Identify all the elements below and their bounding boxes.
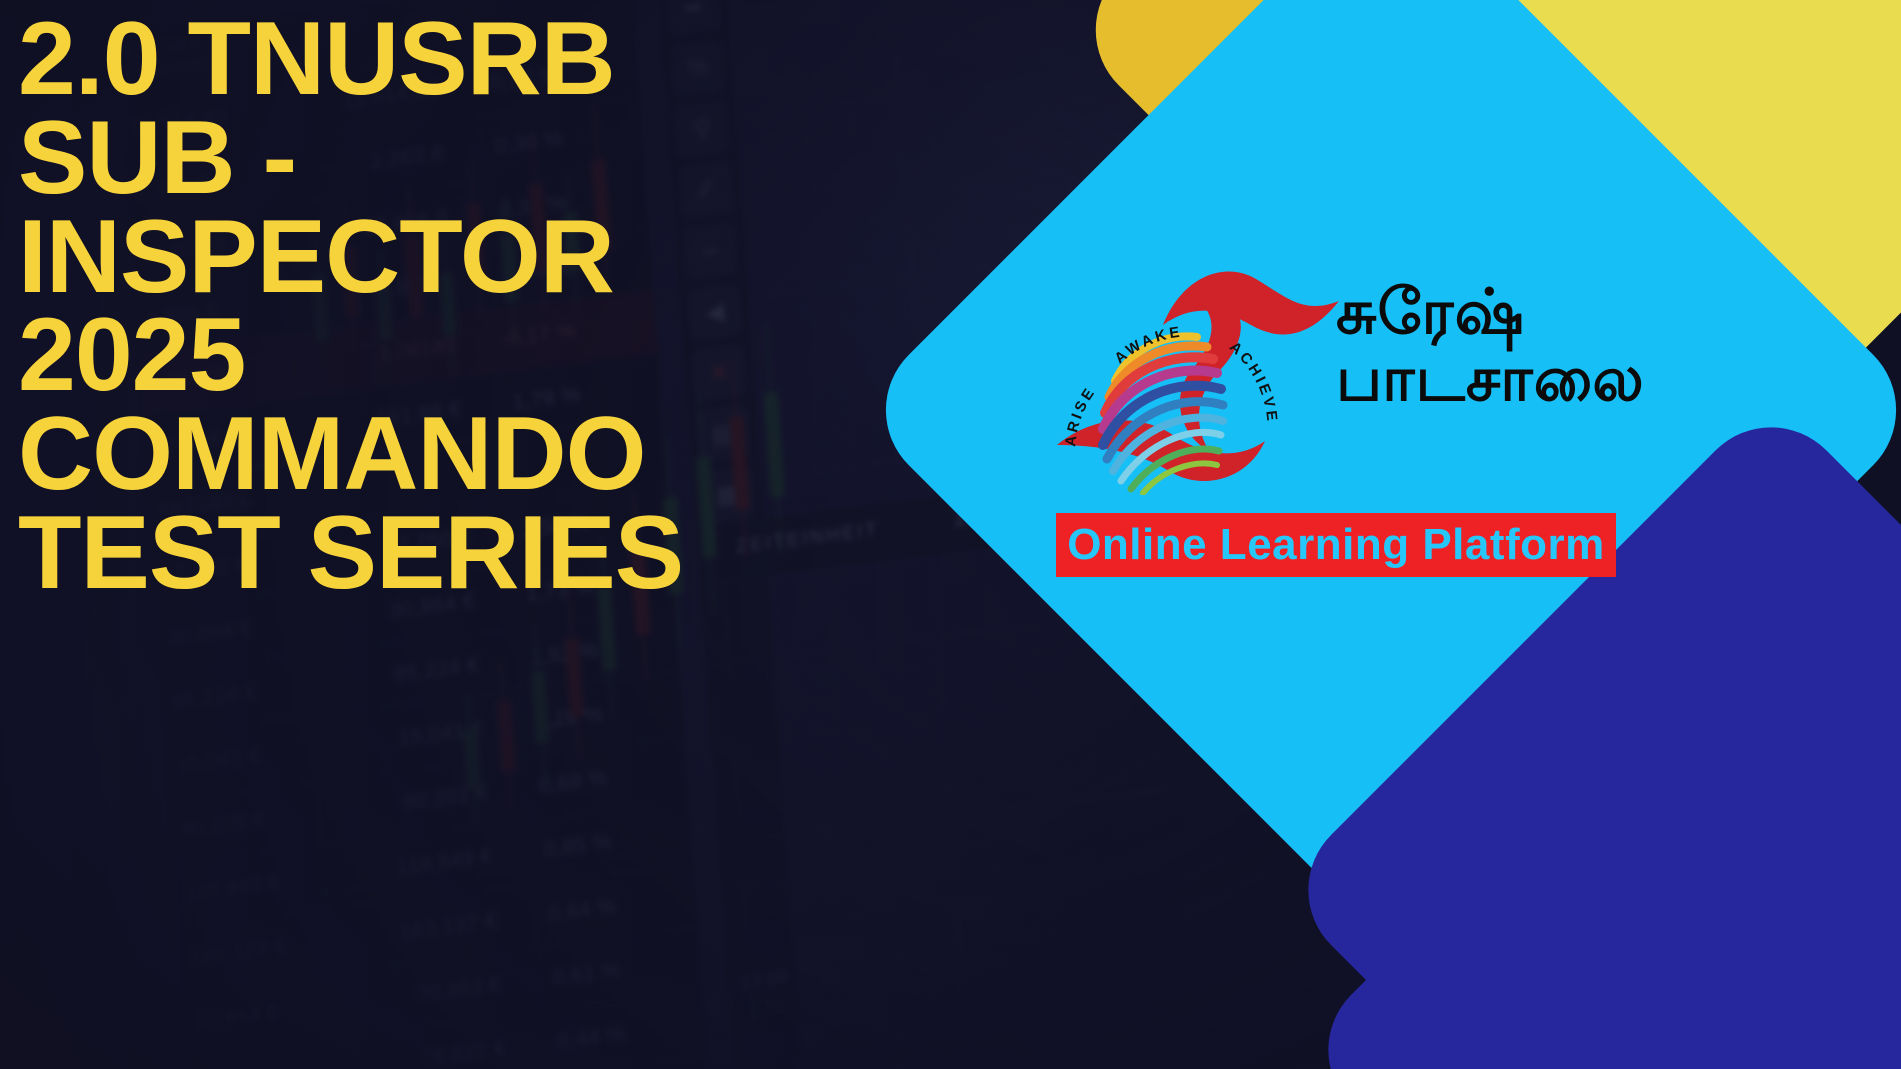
headline-line-5: COMMANDO [18,405,918,504]
headline-line-4: 2025 [18,306,918,405]
poster-canvas: ZEITEINHEIT ▼ ZEITRAUM ▼ INDIKATOR ▼ SCA… [0,0,1901,1069]
tagline-text: Online Learning Platform [1067,520,1605,570]
svg-text:ACHIEVE: ACHIEVE [1226,338,1281,424]
globe-ribbon-logo-icon: ARISE AWAKE ACHIEVE [1051,255,1351,495]
brand-name-line1: சுரேஷ் [1336,281,1816,344]
headline-line-2: SUB - [18,109,918,208]
brand-name-line2: பாடசாலை [1336,348,1816,411]
brand-graphic-panel: ARISE AWAKE ACHIEVE சுரேஷ் பாடசாலை Onlin… [921,0,1901,1069]
brand-name: சுரேஷ் பாடசாலை [1336,281,1816,411]
headline-line-6: TEST SERIES [18,504,918,603]
brand-logo: ARISE AWAKE ACHIEVE சுரேஷ் பாடசாலை Onlin… [1051,255,1851,575]
headline-line-1: 2.0 TNUSRB [18,10,918,109]
tagline-banner: Online Learning Platform [1056,513,1616,577]
poster-headline: 2.0 TNUSRB SUB - INSPECTOR 2025 COMMANDO… [18,10,918,603]
headline-line-3: INSPECTOR [18,208,918,307]
